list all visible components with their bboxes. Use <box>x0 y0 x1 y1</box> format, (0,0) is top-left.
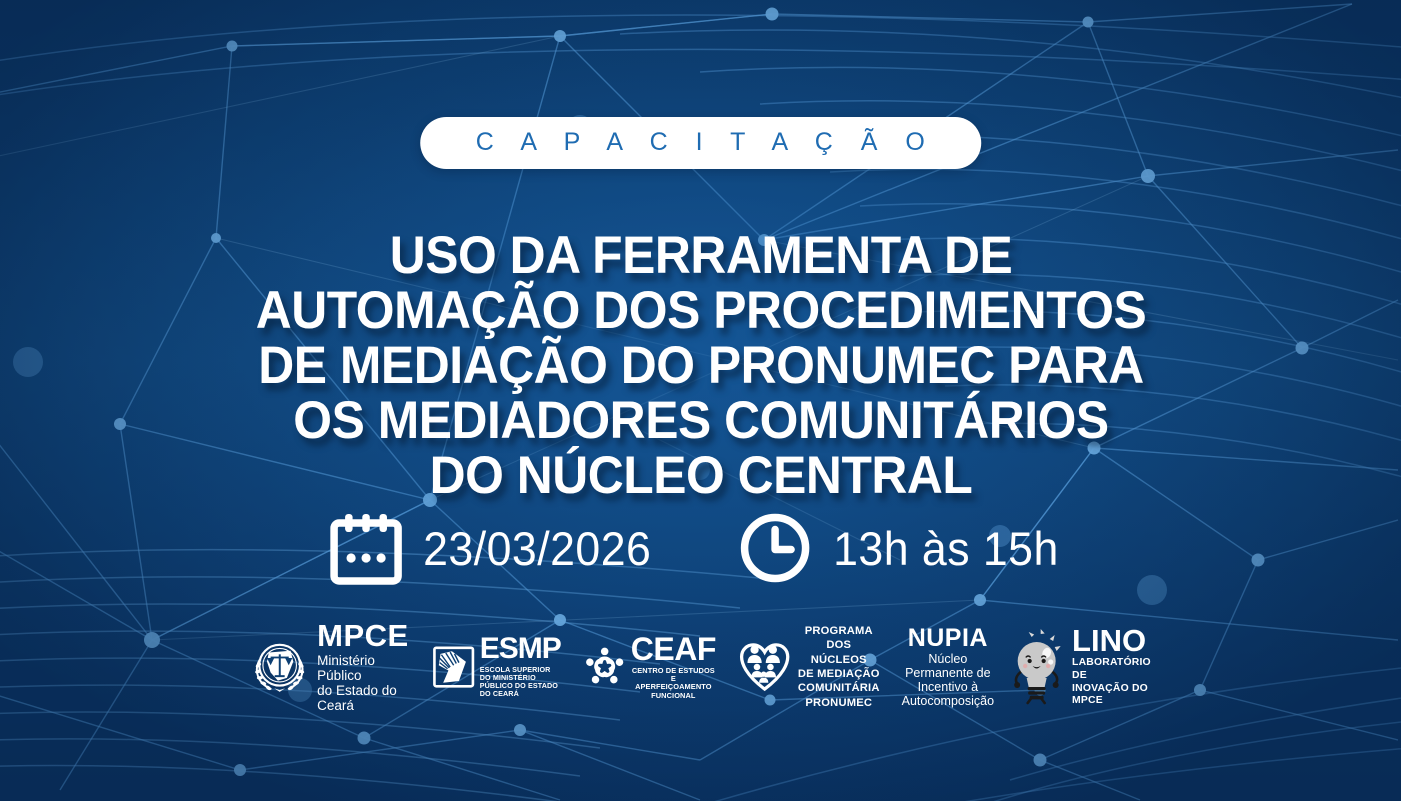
ceaf-subtitle: CENTRO DE ESTUDOS E APERFEIÇOAMENTO FUNC… <box>631 667 716 700</box>
esmp-mark-icon <box>433 646 475 688</box>
pronumec-subtitle: PROGRAMA DOS NÚCLEOS DE MEDIAÇÃO COMUNIT… <box>798 624 880 710</box>
event-details: 23/03/2026 13h às 15h <box>331 512 1071 584</box>
poster-canvas: C A P A C I T A Ç Ã O USO DA FERRAMENTA … <box>0 0 1401 801</box>
clock-icon <box>739 512 811 584</box>
pronumec-text: PROGRAMA DOS NÚCLEOS DE MEDIAÇÃO COMUNIT… <box>798 624 880 710</box>
calendar-icon <box>331 512 401 584</box>
logo-ceaf: CEAF CENTRO DE ESTUDOS E APERFEIÇOAMENTO… <box>583 634 716 700</box>
event-time: 13h às 15h <box>739 512 1071 584</box>
nupia-text: NUPIA Núcleo Permanente de Incentivo à A… <box>902 626 994 708</box>
title-line-1: USO DA FERRAMENTA DE <box>71 228 1331 283</box>
event-date-value: 23/03/2026 <box>423 525 651 572</box>
event-date: 23/03/2026 <box>331 512 663 584</box>
mpce-name: MPCE <box>317 621 409 651</box>
badge-label: C A P A C I T A Ç Ã O <box>466 130 936 155</box>
event-time-value: 13h às 15h <box>833 525 1059 572</box>
page-title: USO DA FERRAMENTA DE AUTOMAÇÃO DOS PROCE… <box>31 228 1371 503</box>
ceaf-text: CEAF CENTRO DE ESTUDOS E APERFEIÇOAMENTO… <box>631 634 716 700</box>
capacitacao-badge: C A P A C I T A Ç Ã O <box>420 117 982 169</box>
ceaf-people-icon <box>583 645 627 689</box>
title-line-2: AUTOMAÇÃO DOS PROCEDIMENTOS <box>71 283 1331 338</box>
lino-name: LINO <box>1072 626 1151 656</box>
lino-lightbulb-mascot-icon <box>1008 631 1070 703</box>
title-line-4: OS MEDIADORES COMUNITÁRIOS <box>71 393 1331 448</box>
partner-logos: MPCE Ministério Público do Estado do Cea… <box>250 621 1151 713</box>
title-line-3: DE MEDIAÇÃO DO PRONUMEC PARA <box>71 338 1331 393</box>
mpce-seal-icon <box>250 638 308 696</box>
nupia-name: NUPIA <box>902 626 994 650</box>
mpce-text: MPCE Ministério Público do Estado do Cea… <box>317 621 409 713</box>
ceaf-name: CEAF <box>631 634 716 665</box>
mpce-subtitle: Ministério Público do Estado do Ceará <box>317 653 409 713</box>
pronumec-heart-family-icon <box>740 642 790 692</box>
logo-lino: LINO LABORATÓRIO DE INOVAÇÃO DO MPCE <box>1008 626 1151 709</box>
nupia-subtitle: Núcleo Permanente de Incentivo à Autocom… <box>902 652 994 708</box>
logo-mpce: MPCE Ministério Público do Estado do Cea… <box>250 621 409 713</box>
esmp-subtitle: ESCOLA SUPERIOR DO MINISTÉRIO PÚBLICO DO… <box>480 666 561 698</box>
lino-text: LINO LABORATÓRIO DE INOVAÇÃO DO MPCE <box>1072 626 1151 709</box>
logo-esmp: ESMP ESCOLA SUPERIOR DO MINISTÉRIO PÚBLI… <box>433 635 561 698</box>
logo-pronumec: PROGRAMA DOS NÚCLEOS DE MEDIAÇÃO COMUNIT… <box>740 624 880 710</box>
logo-nupia: NUPIA Núcleo Permanente de Incentivo à A… <box>902 626 994 708</box>
esmp-name: ESMP <box>480 635 561 664</box>
esmp-text: ESMP ESCOLA SUPERIOR DO MINISTÉRIO PÚBLI… <box>480 635 561 698</box>
lino-subtitle: LABORATÓRIO DE INOVAÇÃO DO MPCE <box>1072 657 1151 708</box>
poster-content: C A P A C I T A Ç Ã O USO DA FERRAMENTA … <box>0 0 1401 801</box>
title-line-5: DO NÚCLEO CENTRAL <box>71 448 1331 503</box>
